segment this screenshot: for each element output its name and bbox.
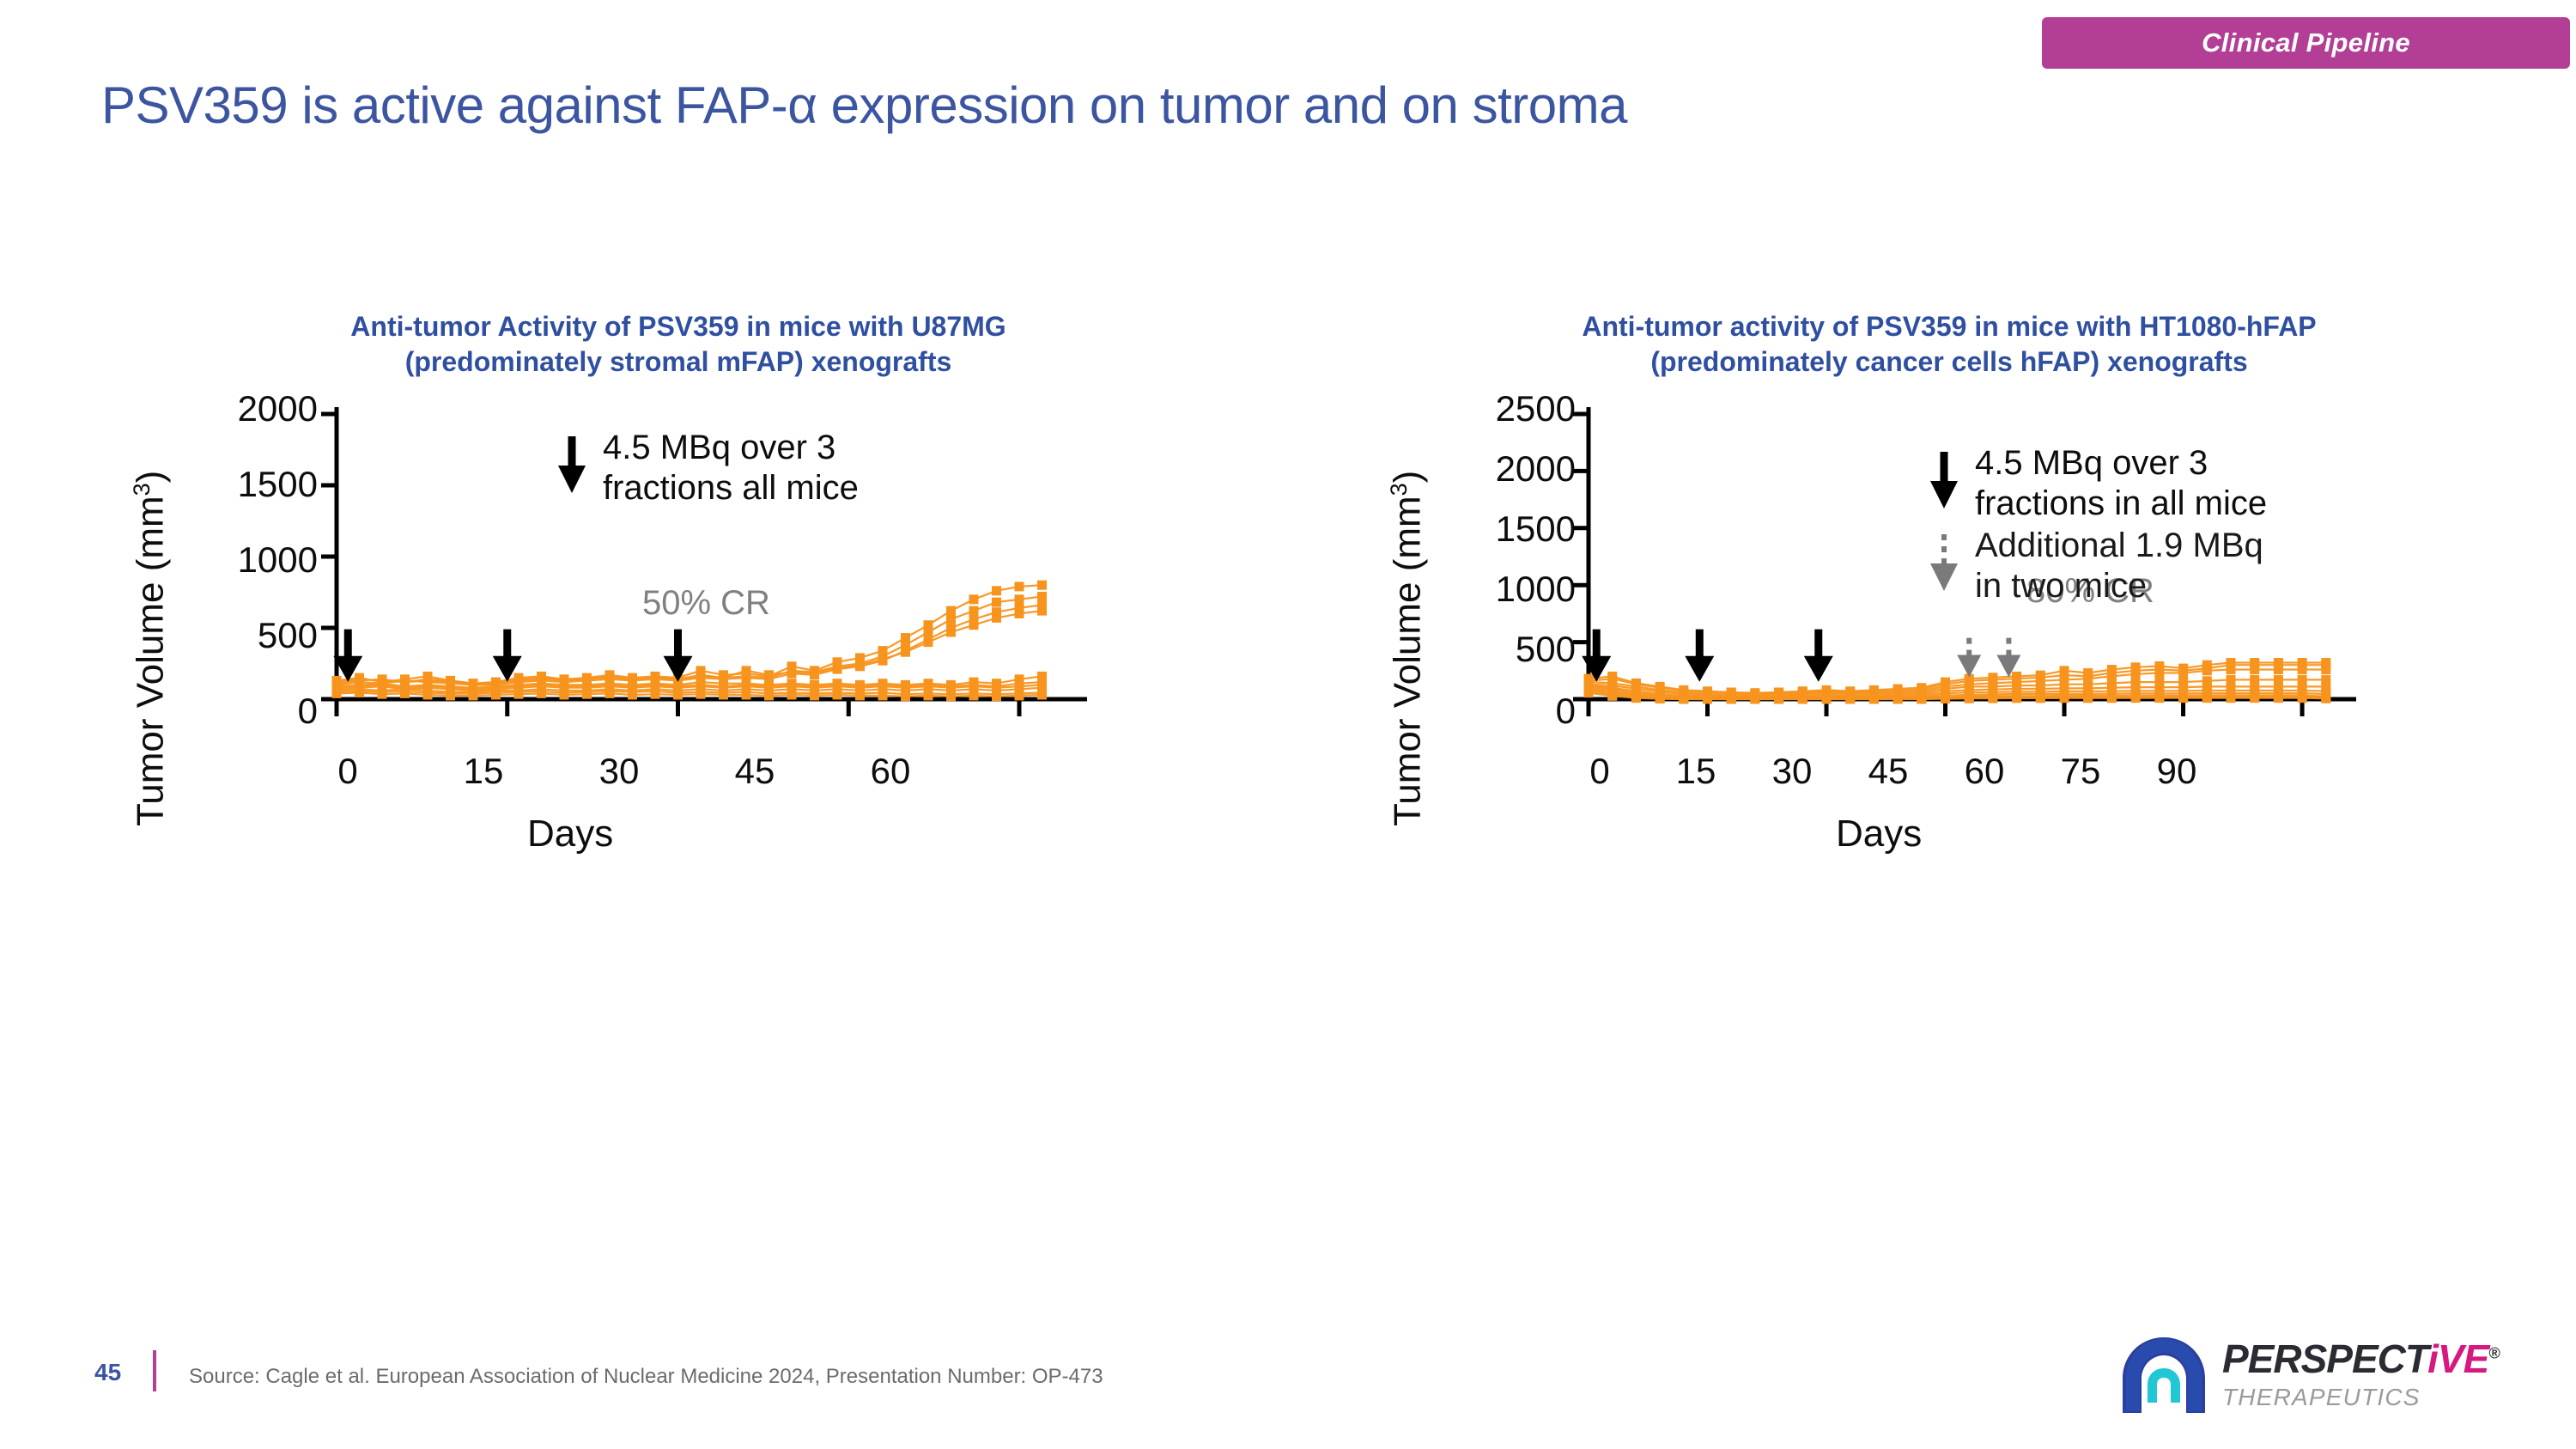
chart-svg-ht1080 [1570, 407, 2480, 734]
x-tick-0: 0 [309, 751, 386, 792]
chart-title-ht1080: Anti-tumor activity of PSV359 in mice wi… [1421, 309, 2477, 380]
x-tick-75: 75 [2042, 751, 2119, 792]
chart-title-line-2: (predominately stromal mFAP) xenografts [193, 344, 1163, 380]
y-tick-500: 500 [155, 615, 318, 656]
page-number: 45 [94, 1359, 121, 1386]
x-tick-45: 45 [1850, 751, 1927, 792]
slide-canvas: Clinical Pipeline PSV359 is active again… [0, 0, 2576, 1449]
footer-divider [153, 1350, 156, 1391]
clinical-pipeline-badge: Clinical Pipeline [2042, 17, 2570, 69]
plot-area-u87mg: Tumor Volume (mm3) 2000 1500 1000 500 0 … [103, 416, 1254, 776]
y-tick-1500: 1500 [1408, 508, 1576, 550]
x-tick-60: 60 [1946, 751, 2023, 792]
x-axis-title-u87mg: Days [527, 813, 613, 855]
y-tick-1500: 1500 [155, 464, 318, 505]
y-tick-2000: 2000 [155, 388, 318, 429]
chart-panel-ht1080: Anti-tumor activity of PSV359 in mice wi… [1374, 309, 2524, 776]
chart-title-line-2: (predominately cancer cells hFAP) xenogr… [1421, 344, 2477, 380]
y-tick-0: 0 [1408, 691, 1576, 732]
logo-registered-mark: ® [2488, 1345, 2499, 1362]
x-tick-90: 90 [2138, 751, 2215, 792]
logo-wordmark: PERSPECTiVE® THERAPEUTICS [2222, 1336, 2500, 1411]
logo-name-main: PERSPECT [2222, 1336, 2427, 1381]
clinical-pipeline-badge-label: Clinical Pipeline [2202, 27, 2410, 58]
x-tick-45: 45 [716, 751, 793, 792]
chart-svg-u87mg [318, 407, 1228, 734]
chart-panel-u87mg: Anti-tumor Activity of PSV359 in mice wi… [103, 309, 1254, 776]
y-tick-1000: 1000 [1408, 569, 1576, 610]
company-logo: PERSPECTiVE® THERAPEUTICS [2119, 1327, 2549, 1422]
logo-tagline: THERAPEUTICS [2222, 1384, 2500, 1411]
x-tick-30: 30 [1753, 751, 1831, 792]
x-tick-0: 0 [1561, 751, 1638, 792]
source-citation: Source: Cagle et al. European Associatio… [189, 1365, 1103, 1389]
x-tick-15: 15 [1657, 751, 1735, 792]
logo-company-name: PERSPECTiVE® [2222, 1336, 2500, 1382]
x-tick-30: 30 [580, 751, 658, 792]
logo-name-accent: iVE [2427, 1336, 2488, 1381]
y-tick-1000: 1000 [155, 539, 318, 581]
y-tick-2000: 2000 [1408, 448, 1576, 490]
perspective-logo-mark-icon [2119, 1332, 2208, 1418]
y-axis-title-exponent: 3 [129, 483, 155, 496]
page-title: PSV359 is active against FAP-α expressio… [101, 76, 1627, 135]
chart-title-line-1: Anti-tumor Activity of PSV359 in mice wi… [193, 309, 1163, 344]
y-tick-2500: 2500 [1408, 388, 1576, 429]
plot-area-ht1080: Tumor Volume (mm3) 2500 2000 1500 1000 5… [1374, 416, 2524, 776]
x-axis-title-ht1080: Days [1836, 813, 1922, 855]
y-tick-0: 0 [155, 691, 318, 732]
chart-title-u87mg: Anti-tumor Activity of PSV359 in mice wi… [193, 309, 1163, 380]
x-tick-15: 15 [445, 751, 522, 792]
x-tick-60: 60 [852, 751, 929, 792]
chart-title-line-1: Anti-tumor activity of PSV359 in mice wi… [1421, 309, 2477, 344]
y-tick-500: 500 [1408, 629, 1576, 670]
